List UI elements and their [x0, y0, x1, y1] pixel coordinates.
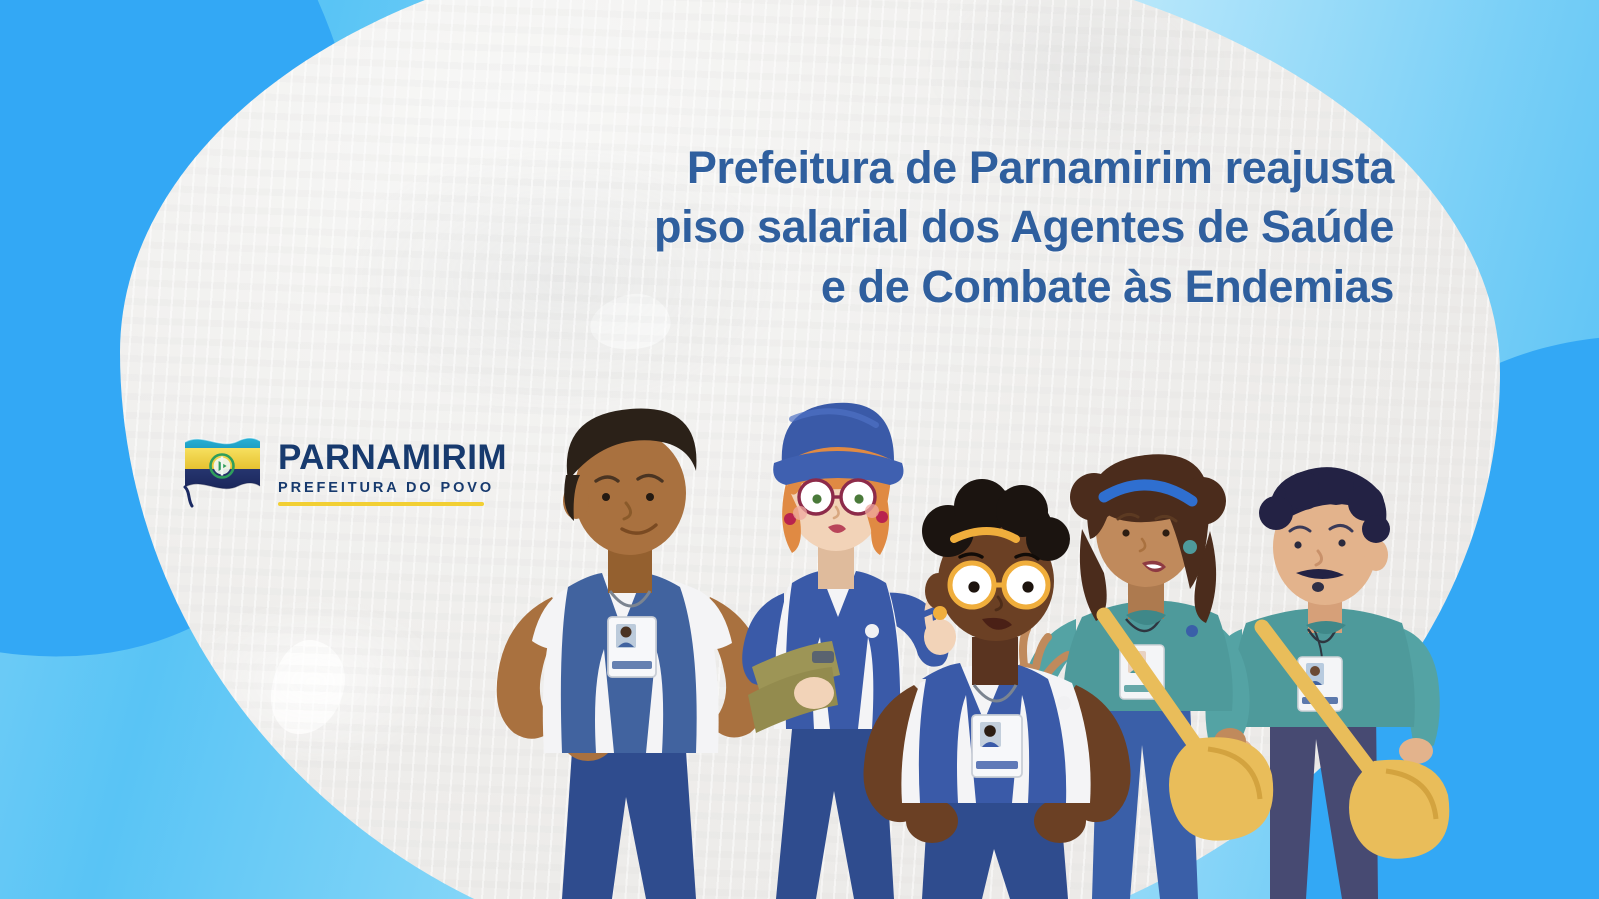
headline-line-1: Prefeitura de Parnamirim reajusta [494, 138, 1394, 197]
brand-lockup: PARNAMIRIM PREFEITURA DO POVO [180, 428, 507, 514]
headline: Prefeitura de Parnamirim reajusta piso s… [494, 138, 1394, 316]
headline-line-2: piso salarial dos Agentes de Saúde [494, 197, 1394, 256]
headline-line-3: e de Combate às Endemias [494, 257, 1394, 316]
brand-underline [278, 502, 484, 506]
poster-canvas: Prefeitura de Parnamirim reajusta piso s… [0, 0, 1599, 899]
figure-agent-man-blue-vest [497, 409, 768, 899]
health-agents-illustration [470, 379, 1470, 899]
parnamirim-flag-icon [180, 428, 264, 514]
paper-texture-flake [266, 636, 349, 739]
